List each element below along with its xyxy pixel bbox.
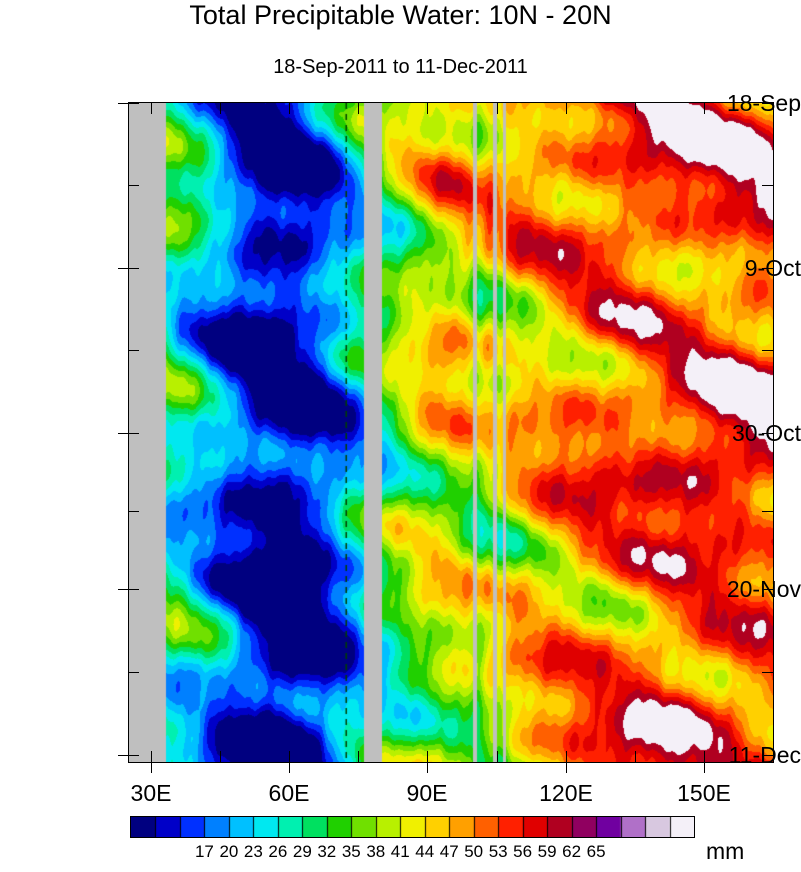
y-tick-label-4: 11-Dec bbox=[681, 744, 801, 767]
colorbar-units-label: mm bbox=[706, 838, 744, 865]
y-tick-label-0: 18-Sep bbox=[681, 92, 801, 115]
y-tick-inner-4 bbox=[128, 755, 139, 756]
x-tick-inner-1 bbox=[289, 751, 290, 762]
y-tick-inner-0 bbox=[128, 103, 139, 104]
x-tick-4 bbox=[704, 763, 705, 773]
x-tick-inner-2 bbox=[427, 751, 428, 762]
y-tick-inner-2 bbox=[128, 433, 139, 434]
x-tick-inner-0 bbox=[151, 751, 152, 762]
colorbar-canvas bbox=[131, 817, 694, 837]
colorbar-tick-label-16: 65 bbox=[576, 842, 616, 862]
x-tick-label-3: 120E bbox=[521, 780, 611, 807]
x-tick-top-minor-3 bbox=[635, 103, 636, 114]
y-tick-right-minor-2 bbox=[762, 511, 773, 512]
y-tick-minor-2 bbox=[128, 511, 139, 512]
x-tick-top-minor-0 bbox=[220, 103, 221, 114]
x-tick-top-0 bbox=[151, 103, 152, 114]
y-tick-inner-1 bbox=[128, 268, 139, 269]
x-tick-label-1: 60E bbox=[244, 780, 334, 807]
page-subtitle: 18-Sep-2011 to 11-Dec-2011 bbox=[0, 56, 801, 79]
x-tick-label-4: 150E bbox=[659, 780, 749, 807]
x-tick-label-2: 90E bbox=[382, 780, 472, 807]
x-tick-top-2 bbox=[427, 103, 428, 114]
y-tick-label-3: 20-Nov bbox=[681, 578, 801, 601]
y-tick-0 bbox=[118, 103, 128, 104]
y-tick-minor-0 bbox=[128, 185, 139, 186]
x-tick-minor-0 bbox=[220, 751, 221, 762]
y-tick-label-2: 30-Oct bbox=[681, 422, 801, 445]
heatmap-canvas bbox=[129, 103, 773, 762]
page-title: Total Precipitable Water: 10N - 20N bbox=[0, 0, 801, 31]
x-tick-inner-4 bbox=[704, 751, 705, 762]
y-tick-1 bbox=[118, 268, 128, 269]
y-tick-right-1 bbox=[762, 268, 773, 269]
x-tick-top-minor-1 bbox=[358, 103, 359, 114]
x-tick-1 bbox=[289, 763, 290, 773]
x-tick-label-0: 30E bbox=[106, 780, 196, 807]
x-tick-0 bbox=[151, 763, 152, 773]
x-tick-top-4 bbox=[704, 103, 705, 114]
x-tick-inner-3 bbox=[566, 751, 567, 762]
y-tick-right-minor-0 bbox=[762, 185, 773, 186]
x-tick-top-1 bbox=[289, 103, 290, 114]
x-tick-top-minor-2 bbox=[497, 103, 498, 114]
y-tick-right-0 bbox=[762, 103, 773, 104]
y-tick-2 bbox=[118, 433, 128, 434]
y-tick-right-2 bbox=[762, 433, 773, 434]
y-tick-label-1: 9-Oct bbox=[681, 257, 801, 280]
x-tick-2 bbox=[427, 763, 428, 773]
y-tick-right-4 bbox=[762, 755, 773, 756]
colorbar bbox=[130, 816, 695, 838]
x-tick-minor-2 bbox=[497, 751, 498, 762]
y-tick-right-minor-1 bbox=[762, 350, 773, 351]
y-tick-inner-3 bbox=[128, 589, 139, 590]
y-tick-4 bbox=[118, 755, 128, 756]
y-tick-right-3 bbox=[762, 589, 773, 590]
x-tick-minor-1 bbox=[358, 751, 359, 762]
hovmoller-heatmap bbox=[128, 102, 774, 763]
x-tick-minor-3 bbox=[635, 751, 636, 762]
y-tick-minor-3 bbox=[128, 672, 139, 673]
x-tick-3 bbox=[566, 763, 567, 773]
y-tick-3 bbox=[118, 589, 128, 590]
x-tick-top-3 bbox=[566, 103, 567, 114]
y-tick-right-minor-3 bbox=[762, 672, 773, 673]
y-tick-minor-1 bbox=[128, 350, 139, 351]
